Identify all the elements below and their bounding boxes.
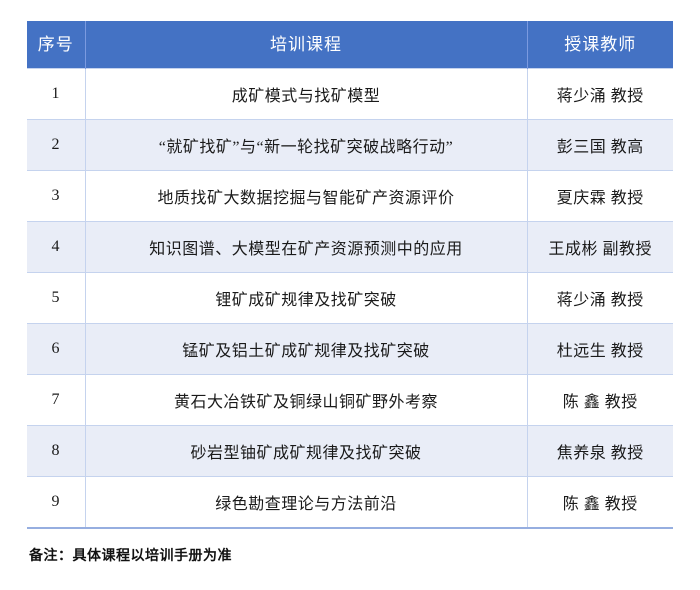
cell-teacher: 蒋少涌 教授 <box>527 273 673 324</box>
cell-index: 6 <box>27 324 85 375</box>
cell-index: 3 <box>27 171 85 222</box>
cell-index: 2 <box>27 120 85 171</box>
cell-teacher: 杜远生 教授 <box>527 324 673 375</box>
cell-course: 锂矿成矿规律及找矿突破 <box>85 273 527 324</box>
cell-teacher: 焦养泉 教授 <box>527 426 673 477</box>
cell-course: 知识图谱、大模型在矿产资源预测中的应用 <box>85 222 527 273</box>
cell-course: “就矿找矿”与“新一轮找矿突破战略行动” <box>85 120 527 171</box>
table-row: 7 黄石大冶铁矿及铜绿山铜矿野外考察 陈 鑫 教授 <box>27 375 673 426</box>
table-footnote: 备注：具体课程以培训手册为准 <box>29 545 232 565</box>
table-row: 1 成矿模式与找矿模型 蒋少涌 教授 <box>27 69 673 120</box>
cell-course: 锰矿及铝土矿成矿规律及找矿突破 <box>85 324 527 375</box>
table-row: 2 “就矿找矿”与“新一轮找矿突破战略行动” 彭三国 教高 <box>27 120 673 171</box>
cell-teacher: 夏庆霖 教授 <box>527 171 673 222</box>
cell-teacher: 王成彬 副教授 <box>527 222 673 273</box>
cell-course: 绿色勘查理论与方法前沿 <box>85 477 527 529</box>
cell-index: 8 <box>27 426 85 477</box>
table-row: 3 地质找矿大数据挖掘与智能矿产资源评价 夏庆霖 教授 <box>27 171 673 222</box>
cell-teacher: 陈 鑫 教授 <box>527 477 673 529</box>
table-row: 4 知识图谱、大模型在矿产资源预测中的应用 王成彬 副教授 <box>27 222 673 273</box>
table-row: 6 锰矿及铝土矿成矿规律及找矿突破 杜远生 教授 <box>27 324 673 375</box>
column-header-teacher: 授课教师 <box>527 22 673 69</box>
cell-index: 9 <box>27 477 85 529</box>
cell-course: 砂岩型铀矿成矿规律及找矿突破 <box>85 426 527 477</box>
document-page: 序号 培训课程 授课教师 1 成矿模式与找矿模型 蒋少涌 教授 2 “就矿找矿”… <box>0 0 700 590</box>
cell-course: 成矿模式与找矿模型 <box>85 69 527 120</box>
cell-index: 7 <box>27 375 85 426</box>
table-body: 1 成矿模式与找矿模型 蒋少涌 教授 2 “就矿找矿”与“新一轮找矿突破战略行动… <box>27 69 673 529</box>
table-row: 9 绿色勘查理论与方法前沿 陈 鑫 教授 <box>27 477 673 529</box>
cell-course: 地质找矿大数据挖掘与智能矿产资源评价 <box>85 171 527 222</box>
cell-teacher: 彭三国 教高 <box>527 120 673 171</box>
cell-index: 4 <box>27 222 85 273</box>
table-header-row: 序号 培训课程 授课教师 <box>27 22 673 69</box>
cell-index: 5 <box>27 273 85 324</box>
cell-teacher: 陈 鑫 教授 <box>527 375 673 426</box>
table-header: 序号 培训课程 授课教师 <box>27 22 673 69</box>
training-course-table: 序号 培训课程 授课教师 1 成矿模式与找矿模型 蒋少涌 教授 2 “就矿找矿”… <box>27 21 673 529</box>
cell-course: 黄石大冶铁矿及铜绿山铜矿野外考察 <box>85 375 527 426</box>
column-header-index: 序号 <box>27 22 85 69</box>
cell-index: 1 <box>27 69 85 120</box>
table-row: 8 砂岩型铀矿成矿规律及找矿突破 焦养泉 教授 <box>27 426 673 477</box>
table-row: 5 锂矿成矿规律及找矿突破 蒋少涌 教授 <box>27 273 673 324</box>
column-header-course: 培训课程 <box>85 22 527 69</box>
cell-teacher: 蒋少涌 教授 <box>527 69 673 120</box>
